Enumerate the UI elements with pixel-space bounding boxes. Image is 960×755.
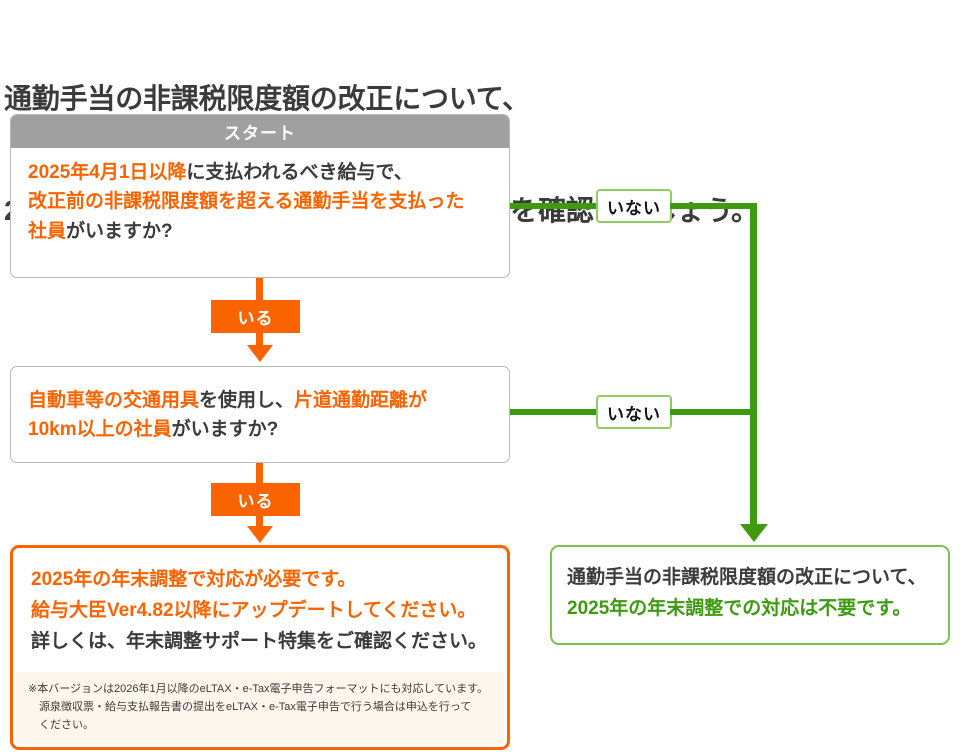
branch-1-no-line-left [510,203,598,209]
flowchart-canvas: 通勤手当の非課税限度額の改正について、 2025年の年末調整で対応が必要かどうか… [0,0,960,755]
result-action-required-box: 2025年の年末調整で対応が必要です。 給与大臣Ver4.82以降にアップデート… [10,545,510,750]
branch-2-yes-arrowhead [247,526,273,543]
result-required-line-2: 給与大臣Ver4.82以降にアップデートしてください。 [31,600,476,621]
result-not-required-line-1: 通勤手当の非課税限度額の改正について、 [567,567,926,588]
result-action-required-text: 2025年の年末調整で対応が必要です。 給与大臣Ver4.82以降にアップデート… [31,565,497,657]
question-1-plain-2: がいますか? [66,221,173,242]
question-2-highlight-3: 10km以上の社員 [28,419,172,440]
branch-2-no-line-right [670,409,757,415]
branch-2-yes-label: いる [211,483,300,516]
branch-2-no-label: いない [596,395,672,429]
no-branch-arrowhead [740,524,768,542]
branch-1-no-line-right [670,203,757,209]
question-1-highlight-3: 社員 [28,221,66,242]
question-2-text: 自動車等の交通用具を使用し、片道通勤距離が 10km以上の社員がいますか? [28,386,499,445]
result-not-required-line-2: 2025年の年末調整での対応は不要です。 [567,598,911,619]
branch-2-no-line-left [510,409,598,415]
page-title-line-1: 通勤手当の非課税限度額の改正について、 [4,80,954,117]
question-1-highlight-2: 改正前の非課税限度額を超える通勤手当を支払った [28,191,464,212]
question-2-highlight-2: 片道通勤距離が [294,390,427,411]
result-required-line-3: 詳しくは、年末調整サポート特集をご確認ください。 [31,631,487,652]
branch-2-yes-line-top [256,463,263,485]
result-no-action-box: 通勤手当の非課税限度額の改正について、 2025年の年末調整での対応は不要です。 [550,545,950,645]
footnote-line-1: ※本バージョンは2026年1月以降のeLTAX・e-Tax電子申告フォーマットに… [28,683,488,695]
result-no-action-text: 通勤手当の非課税限度額の改正について、 2025年の年末調整での対応は不要です。 [567,563,938,625]
result-required-footnote: ※本バージョンは2026年1月以降のeLTAX・e-Tax電子申告フォーマットに… [16,672,504,744]
question-1-text: 2025年4月1日以降に支払われるべき給与で、 改正前の非課税限度額を超える通勤… [28,158,499,246]
question-1-plain-1: に支払われるべき給与で、 [186,162,412,183]
result-required-line-1: 2025年の年末調整で対応が必要です。 [31,569,356,590]
branch-1-no-label: いない [596,189,672,223]
branch-1-yes-label: いる [211,300,300,333]
start-question-box: スタート 2025年4月1日以降に支払われるべき給与で、 改正前の非課税限度額を… [10,114,510,278]
footnote-line-2: 源泉徴収票・給与支払報告書の提出をeLTAX・e-Tax電子申告で行う場合は申込… [28,699,494,717]
no-branch-trunk-line [750,203,757,528]
branch-1-yes-arrowhead [247,345,273,362]
start-box-header: スタート [11,115,509,148]
question-2-highlight-1: 自動車等の交通用具 [28,390,199,411]
footnote-line-3: ください。 [28,717,494,735]
question-2-plain-1: を使用し、 [199,390,294,411]
question-2-plain-2: がいますか? [172,419,279,440]
question-2-box: 自動車等の交通用具を使用し、片道通勤距離が 10km以上の社員がいますか? [10,366,510,463]
question-1-highlight-1: 2025年4月1日以降 [28,162,186,183]
